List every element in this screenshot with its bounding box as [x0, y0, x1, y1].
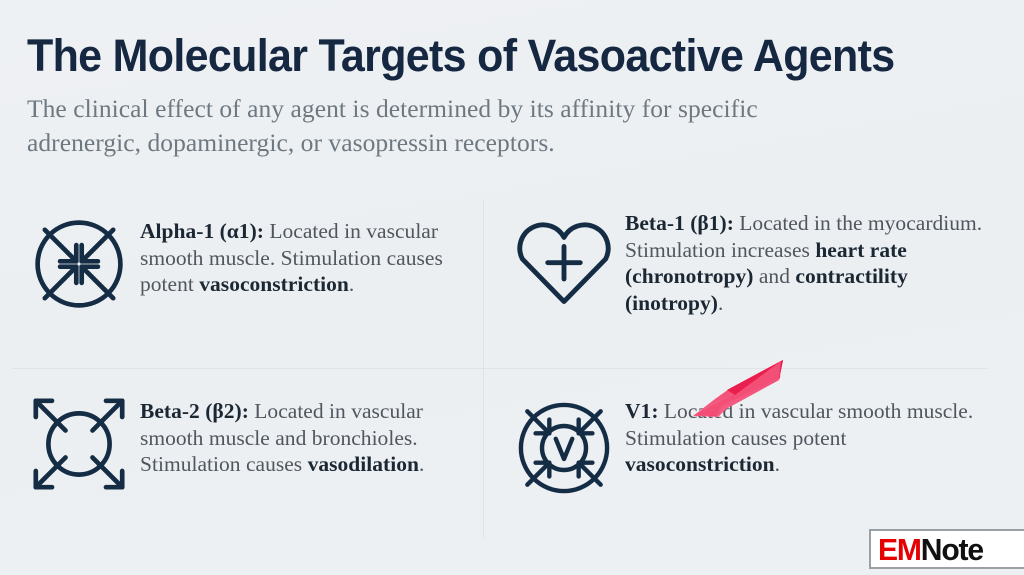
receptor-label-v1: V1: [625, 399, 659, 423]
receptor-card-beta-2: Beta-2 (β2): Located in vascular smooth … [18, 384, 473, 504]
receptor-text-beta-1-end: . [718, 291, 723, 315]
receptor-text-beta-2-end: . [419, 452, 424, 476]
receptor-label-beta-2: Beta-2 (β2): [140, 399, 249, 423]
receptor-emphasis-alpha-1: vasoconstriction [199, 272, 349, 296]
slide-canvas: The Molecular Targets of Vasoactive Agen… [0, 0, 1024, 575]
logo-text-em: EM [878, 532, 921, 567]
logo-text: EMNote [878, 534, 983, 565]
receptor-card-v1: V1: Located in vascular smooth muscle. S… [503, 388, 983, 508]
receptor-label-alpha-1: Alpha-1 (α1): [140, 219, 264, 243]
header: The Molecular Targets of Vasoactive Agen… [27, 30, 987, 160]
logo-text-note: Note [921, 532, 983, 567]
grid-divider-vertical [483, 200, 484, 539]
circle-outward-arrows-icon [18, 384, 140, 504]
receptor-card-beta-1: Beta-1 (β1): Located in the myocardium. … [503, 200, 983, 320]
receptor-description-beta-1: Beta-1 (β1): Located in the myocardium. … [625, 200, 983, 316]
heart-plus-icon [503, 200, 625, 320]
circle-inward-arrows-icon [18, 204, 140, 324]
receptor-description-v1: V1: Located in vascular smooth muscle. S… [625, 388, 983, 478]
receptor-description-alpha-1: Alpha-1 (α1): Located in vascular smooth… [140, 204, 473, 298]
receptor-grid: Alpha-1 (α1): Located in vascular smooth… [0, 196, 1024, 541]
receptor-description-beta-2: Beta-2 (β2): Located in vascular smooth … [140, 384, 473, 478]
circle-inward-arrows-v-icon [503, 388, 625, 508]
receptor-label-beta-1: Beta-1 (β1): [625, 211, 734, 235]
page-subtitle: The clinical effect of any agent is dete… [27, 92, 867, 160]
emnote-logo: EMNote [869, 529, 1024, 569]
page-title: The Molecular Targets of Vasoactive Agen… [27, 30, 944, 82]
receptor-text-v1-end: . [775, 452, 780, 476]
receptor-emphasis-v1: vasoconstriction [625, 452, 775, 476]
receptor-text-v1: Located in vascular smooth muscle. Stimu… [625, 399, 973, 450]
receptor-card-alpha-1: Alpha-1 (α1): Located in vascular smooth… [18, 204, 473, 324]
receptor-text-beta-1-mid: and [753, 264, 795, 288]
receptor-text-alpha-1-end: . [349, 272, 354, 296]
receptor-emphasis-beta-2: vasodilation [308, 452, 419, 476]
grid-divider-horizontal [12, 368, 987, 369]
